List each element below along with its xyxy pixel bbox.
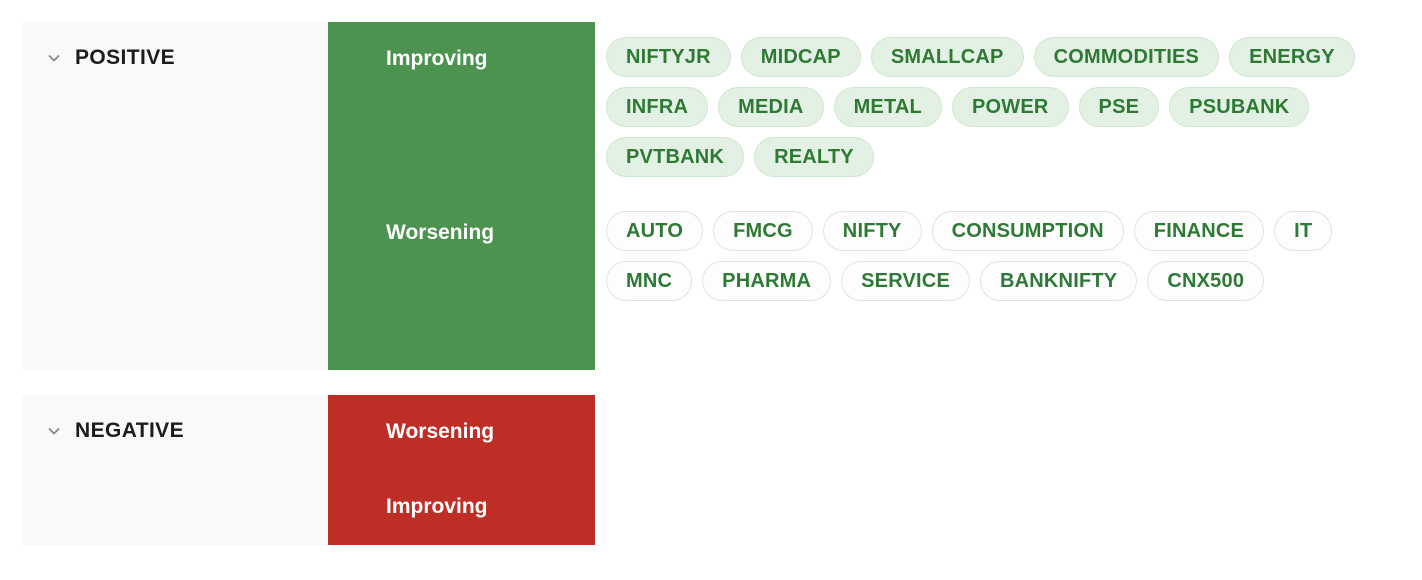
trend-column-positive: Improving Worsening <box>328 22 595 370</box>
trend-cell-negative-worsening[interactable]: Worsening <box>328 395 595 470</box>
trend-label-negative-improving: Improving <box>386 494 488 520</box>
chips-column-positive: NIFTYJRMIDCAPSMALLCAPCOMMODITIESENERGYIN… <box>595 22 1400 370</box>
trend-label-positive-improving: Improving <box>386 46 488 72</box>
sector-chip[interactable]: COMMODITIES <box>1034 37 1220 77</box>
sector-chip[interactable]: CNX500 <box>1147 261 1264 301</box>
trend-cell-positive-improving[interactable]: Improving <box>328 22 595 196</box>
group-card-positive: POSITIVE Improving Worsening NIFTYJRMIDC… <box>22 22 1400 370</box>
trend-cell-positive-worsening[interactable]: Worsening <box>328 196 595 370</box>
group-title-negative: NEGATIVE <box>75 419 184 443</box>
group-card-negative: NEGATIVE Worsening Improving <box>22 395 1400 545</box>
sector-chip[interactable]: METAL <box>834 87 942 127</box>
sector-chip[interactable]: PSE <box>1079 87 1160 127</box>
group-label-column-positive: POSITIVE <box>22 22 328 370</box>
sector-chip[interactable]: ENERGY <box>1229 37 1355 77</box>
sector-chip[interactable]: FMCG <box>713 211 813 251</box>
sector-chip[interactable]: POWER <box>952 87 1069 127</box>
trend-column-negative: Worsening Improving <box>328 395 595 545</box>
chip-list-negative-worsening <box>595 395 1400 470</box>
chips-column-negative <box>595 395 1400 545</box>
sector-chip[interactable]: REALTY <box>754 137 874 177</box>
chip-list-negative-improving <box>595 470 1400 545</box>
sector-chip[interactable]: MIDCAP <box>741 37 861 77</box>
sector-chip[interactable]: FINANCE <box>1134 211 1264 251</box>
trend-label-negative-worsening: Worsening <box>386 419 494 445</box>
group-label-column-negative: NEGATIVE <box>22 395 328 545</box>
sector-chip[interactable]: PHARMA <box>702 261 831 301</box>
sector-chip[interactable]: NIFTY <box>823 211 922 251</box>
chevron-down-icon[interactable] <box>46 50 62 66</box>
sector-chip[interactable]: PVTBANK <box>606 137 744 177</box>
sector-chip[interactable]: INFRA <box>606 87 708 127</box>
sector-chip[interactable]: SMALLCAP <box>871 37 1024 77</box>
sector-chip[interactable]: NIFTYJR <box>606 37 731 77</box>
group-toggle-positive[interactable]: POSITIVE <box>46 46 175 70</box>
trend-label-positive-worsening: Worsening <box>386 220 494 246</box>
group-toggle-negative[interactable]: NEGATIVE <box>46 419 184 443</box>
group-title-positive: POSITIVE <box>75 46 175 70</box>
chip-list-positive-improving: NIFTYJRMIDCAPSMALLCAPCOMMODITIESENERGYIN… <box>595 22 1400 196</box>
sector-chip[interactable]: IT <box>1274 211 1332 251</box>
sector-chip[interactable]: CONSUMPTION <box>932 211 1124 251</box>
sector-rotation-board: POSITIVE Improving Worsening NIFTYJRMIDC… <box>0 0 1422 580</box>
sector-chip[interactable]: PSUBANK <box>1169 87 1309 127</box>
sector-chip[interactable]: MNC <box>606 261 692 301</box>
chip-list-positive-worsening: AUTOFMCGNIFTYCONSUMPTIONFINANCEITMNCPHAR… <box>595 196 1400 370</box>
sector-chip[interactable]: BANKNIFTY <box>980 261 1137 301</box>
trend-cell-negative-improving[interactable]: Improving <box>328 470 595 545</box>
sector-chip[interactable]: SERVICE <box>841 261 970 301</box>
chevron-down-icon[interactable] <box>46 423 62 439</box>
sector-chip[interactable]: MEDIA <box>718 87 823 127</box>
sector-chip[interactable]: AUTO <box>606 211 703 251</box>
